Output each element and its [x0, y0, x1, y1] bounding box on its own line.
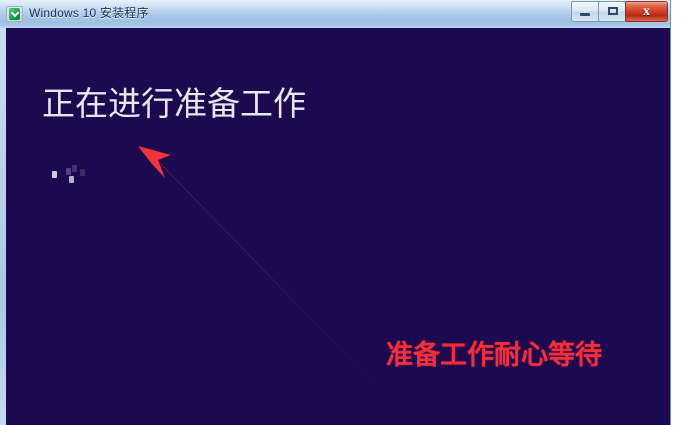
screenshot-root: Windows 10 安装程序 x 正在进行准备工作	[0, 0, 687, 425]
close-button[interactable]: x	[625, 1, 668, 22]
minimize-button[interactable]	[571, 1, 599, 22]
setup-window: Windows 10 安装程序 x 正在进行准备工作	[0, 0, 671, 425]
setup-content-area: 正在进行准备工作	[6, 28, 670, 425]
maximize-icon	[608, 7, 618, 15]
maximize-button[interactable]	[598, 1, 626, 22]
window-title: Windows 10 安装程序	[29, 5, 149, 22]
loading-dots-spinner-icon	[50, 164, 96, 190]
window-controls: x	[572, 1, 668, 23]
close-icon: x	[626, 2, 667, 21]
minimize-icon	[580, 13, 590, 16]
window-titlebar[interactable]: Windows 10 安装程序 x	[0, 0, 671, 28]
page-title: 正在进行准备工作	[42, 84, 306, 124]
setup-installer-icon	[6, 6, 23, 22]
